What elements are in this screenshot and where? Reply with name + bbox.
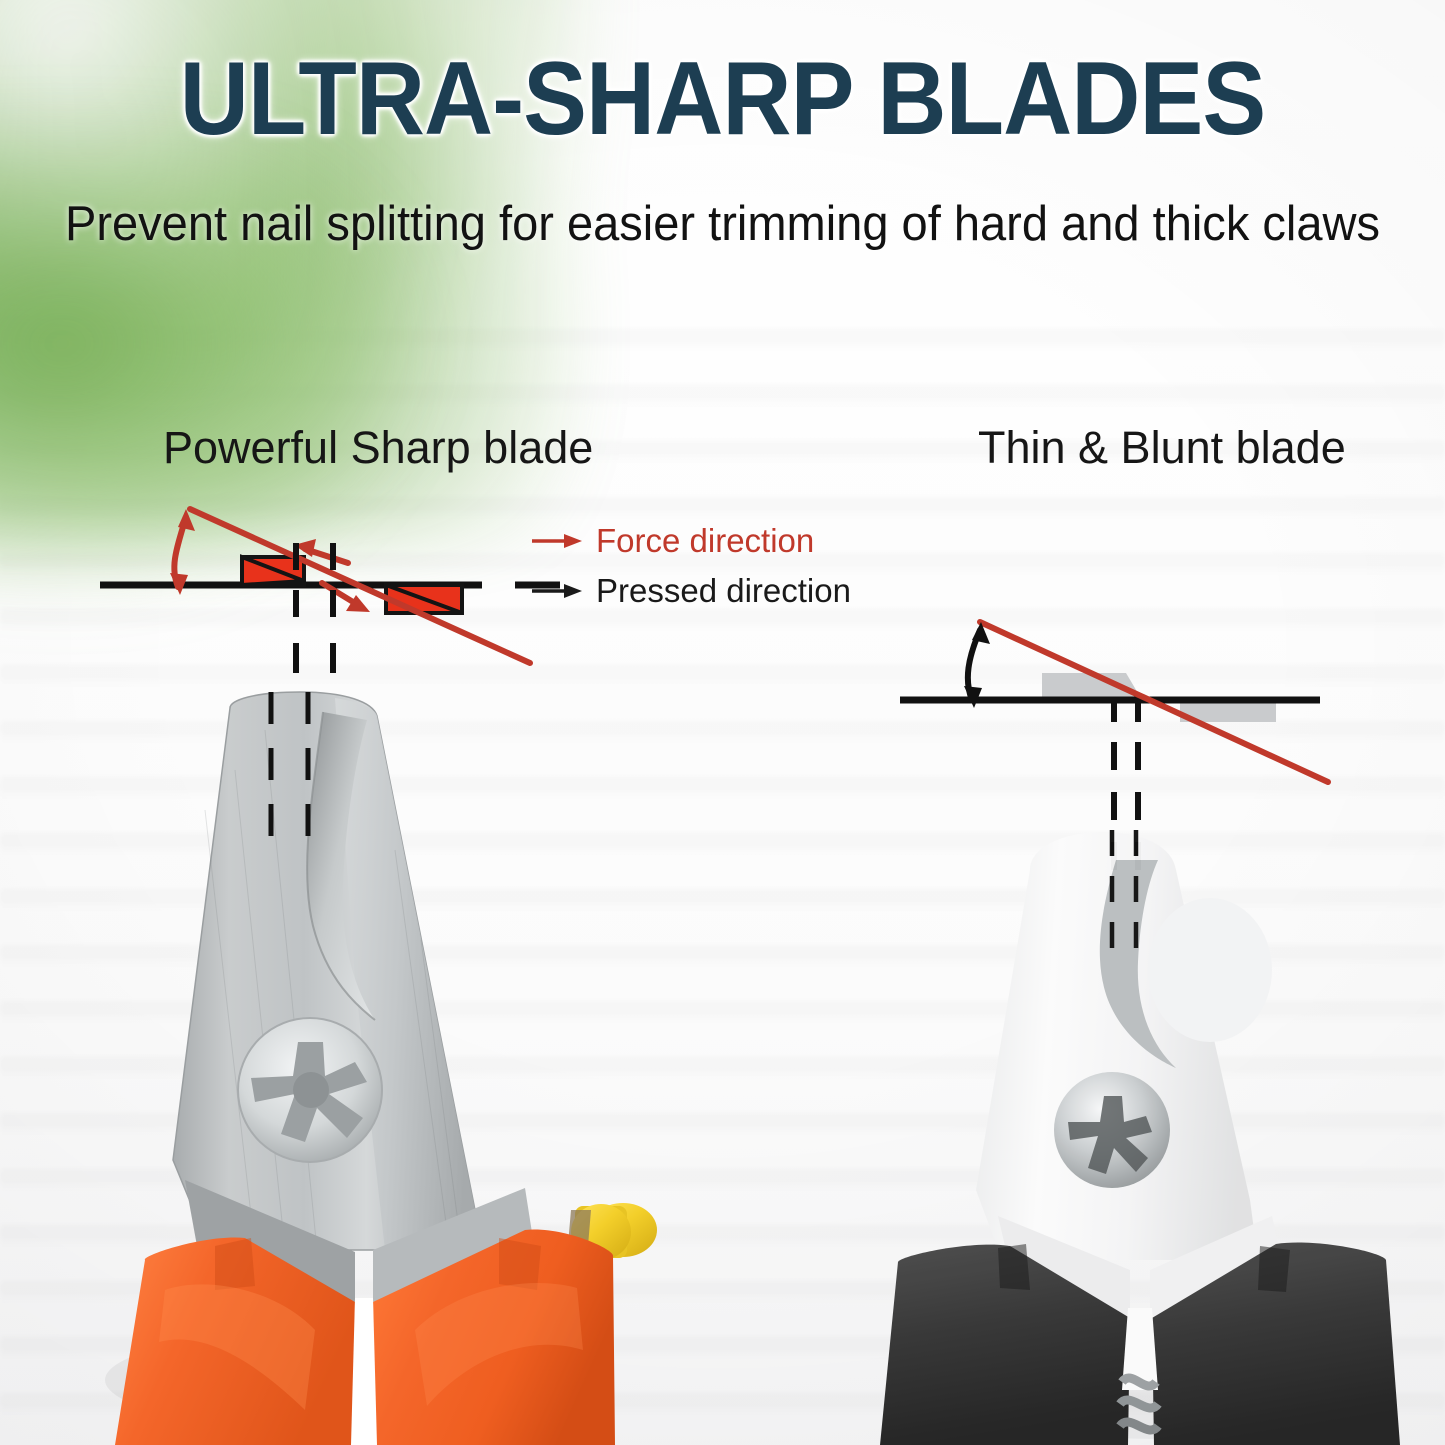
handle-notch-right xyxy=(499,1238,541,1290)
arrow-right-icon xyxy=(530,580,584,602)
legend-label-pressed-direction: Pressed direction xyxy=(596,572,851,610)
legend-label-force-direction: Force direction xyxy=(596,522,814,560)
legend-item-pressed-direction: Pressed direction xyxy=(530,566,860,616)
handle-notch-left xyxy=(998,1244,1030,1290)
handle-notch-left xyxy=(215,1238,255,1290)
clipper-thumb-lobe xyxy=(1148,898,1272,1042)
page-title: ULTRA-SHARP BLADES xyxy=(58,46,1387,152)
page-subtitle: Prevent nail splitting for easier trimmi… xyxy=(29,196,1416,252)
section-heading-blunt-blade: Thin & Blunt blade xyxy=(978,422,1346,474)
orange-steel-nail-clipper xyxy=(55,690,675,1445)
section-heading-sharp-blade: Powerful Sharp blade xyxy=(163,422,593,474)
white-black-nail-clipper xyxy=(880,830,1440,1445)
handle-gap xyxy=(351,1298,377,1445)
legend: Force direction Pressed direction xyxy=(530,516,860,616)
screw-center xyxy=(293,1072,329,1108)
legend-item-force-direction: Force direction xyxy=(530,516,860,566)
handle-notch-right xyxy=(1258,1246,1290,1292)
arrow-right-icon xyxy=(530,530,584,552)
product-feature-banner: ULTRA-SHARP BLADES Prevent nail splittin… xyxy=(0,0,1445,1445)
